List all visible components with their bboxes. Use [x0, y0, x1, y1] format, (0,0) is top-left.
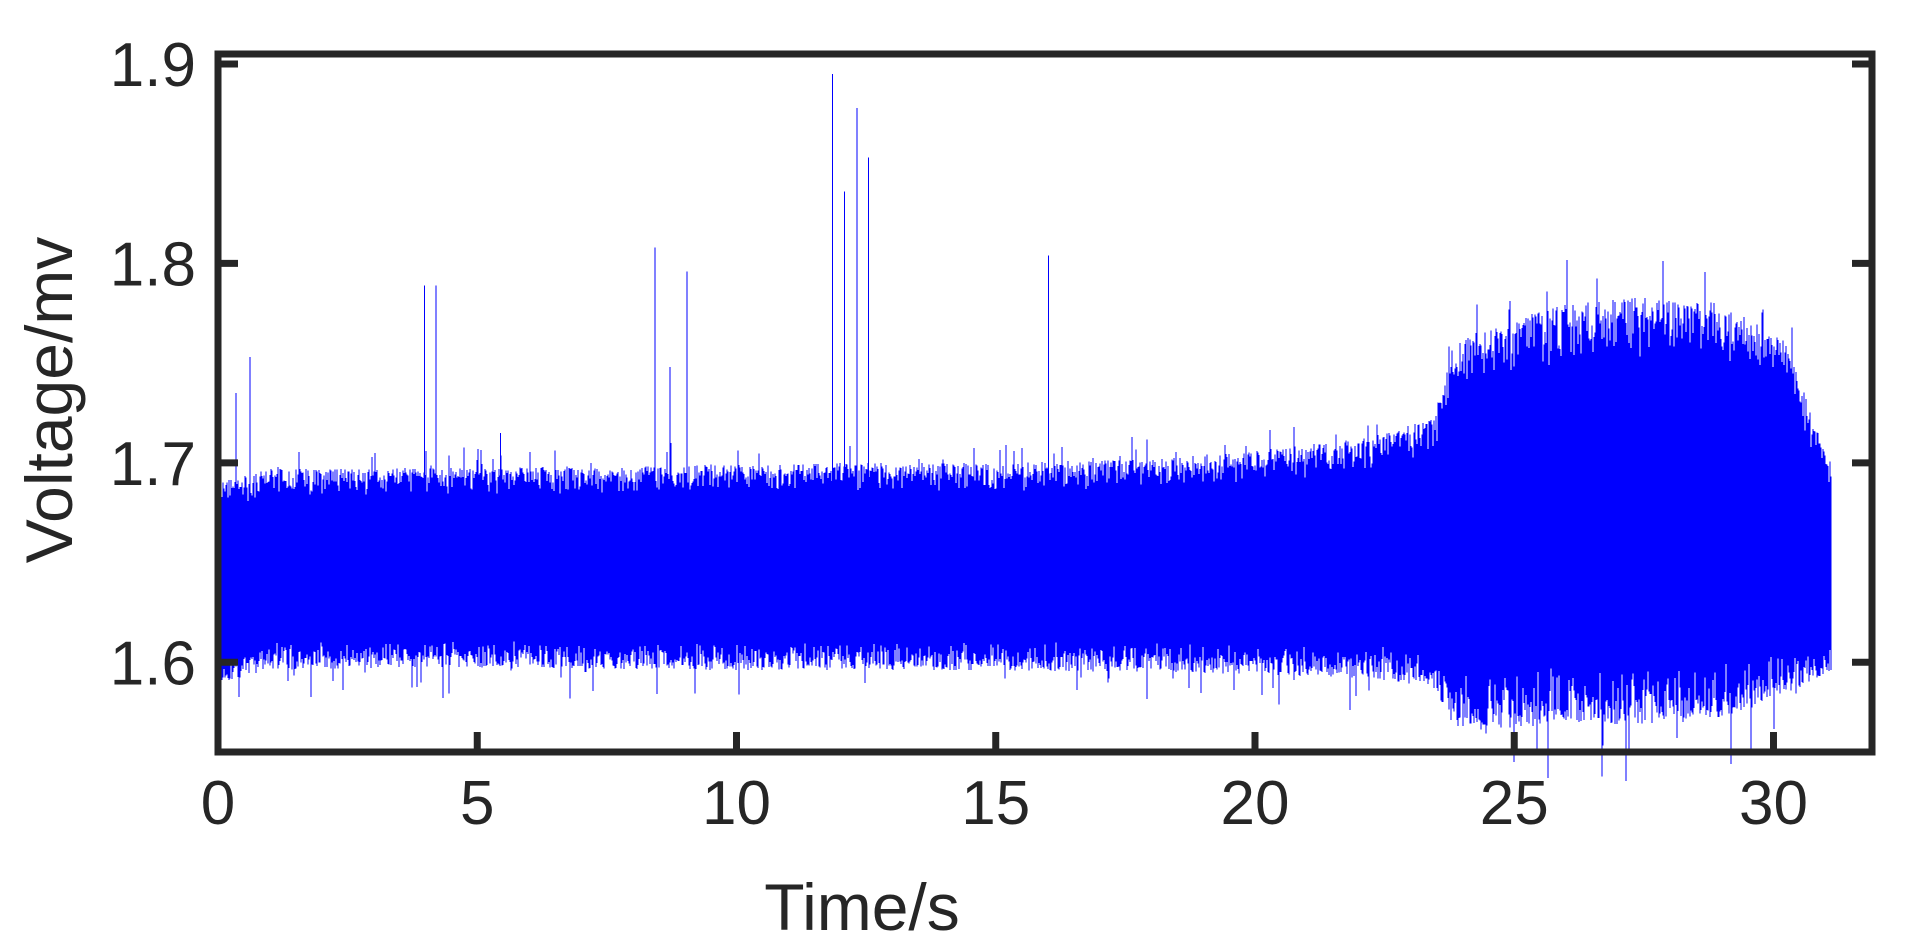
y-tick-label: 1.6 [110, 629, 196, 698]
voltage-time-plot: 051015202530 1.61.71.81.9 Time/s Voltage… [0, 0, 1909, 951]
figure-container: 051015202530 1.61.71.81.9 Time/s Voltage… [0, 0, 1909, 951]
x-axis-title: Time/s [764, 870, 960, 944]
y-axis-title: Voltage/mv [12, 237, 86, 564]
x-tick-label: 5 [460, 769, 494, 838]
x-tick-label: 25 [1480, 769, 1549, 838]
x-tick-label: 0 [201, 769, 235, 838]
x-tick-label: 30 [1739, 769, 1808, 838]
y-tick-label: 1.8 [110, 230, 196, 299]
x-tick-label: 15 [961, 769, 1030, 838]
x-tick-label: 10 [702, 769, 771, 838]
x-tick-label: 20 [1221, 769, 1290, 838]
y-tick-label: 1.9 [110, 31, 196, 100]
y-tick-label: 1.7 [110, 430, 196, 499]
